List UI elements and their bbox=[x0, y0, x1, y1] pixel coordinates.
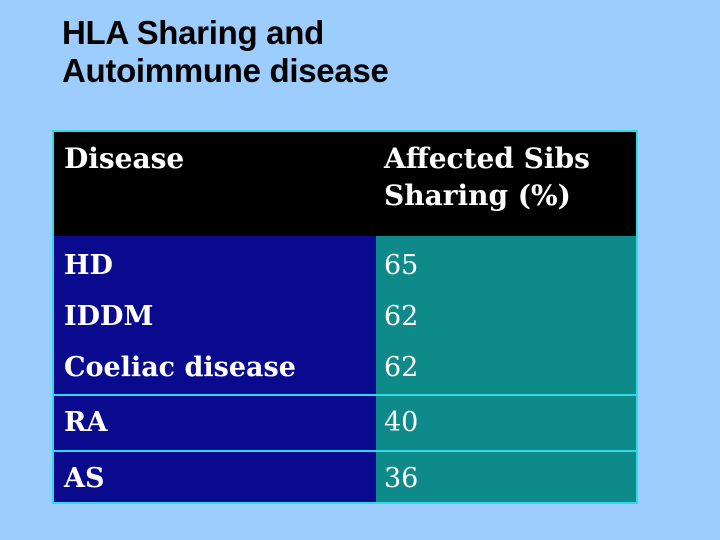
group-cell-sharing: 65 62 62 bbox=[376, 236, 636, 394]
header-cell-sharing: Affected Sibs Sharing (%) bbox=[376, 132, 636, 236]
disease-label-iddm: IDDM bbox=[64, 291, 376, 342]
row-cell-disease: RA bbox=[54, 396, 376, 450]
header-cell-disease: Disease bbox=[54, 132, 376, 236]
disease-label-ra: RA bbox=[64, 398, 376, 448]
group-cell-disease: HD IDDM Coeliac disease bbox=[54, 236, 376, 394]
sharing-value-hd: 65 bbox=[384, 240, 636, 291]
table-header-row: Disease Affected Sibs Sharing (%) bbox=[54, 132, 636, 236]
sharing-value-as: 36 bbox=[384, 454, 636, 504]
row-cell-sharing: 36 bbox=[376, 452, 636, 504]
hla-sharing-table: Disease Affected Sibs Sharing (%) HD IDD… bbox=[52, 130, 638, 504]
row-cell-sharing: 40 bbox=[376, 396, 636, 450]
slide-canvas: HLA Sharing and Autoimmune disease Disea… bbox=[0, 0, 720, 540]
disease-label-hd: HD bbox=[64, 240, 376, 291]
header-label-sharing: Affected Sibs Sharing (%) bbox=[384, 140, 636, 214]
row-cell-disease: AS bbox=[54, 452, 376, 504]
page-title: HLA Sharing and Autoimmune disease bbox=[62, 14, 662, 90]
table-row-group-merged: HD IDDM Coeliac disease 65 62 62 bbox=[54, 236, 636, 394]
disease-label-coeliac: Coeliac disease bbox=[64, 342, 376, 393]
table-row: AS 36 bbox=[54, 452, 636, 504]
sharing-value-ra: 40 bbox=[384, 398, 636, 448]
sharing-value-coeliac: 62 bbox=[384, 342, 636, 393]
table-row: RA 40 bbox=[54, 396, 636, 450]
sharing-value-iddm: 62 bbox=[384, 291, 636, 342]
disease-label-as: AS bbox=[64, 454, 376, 504]
header-label-disease: Disease bbox=[64, 140, 376, 177]
